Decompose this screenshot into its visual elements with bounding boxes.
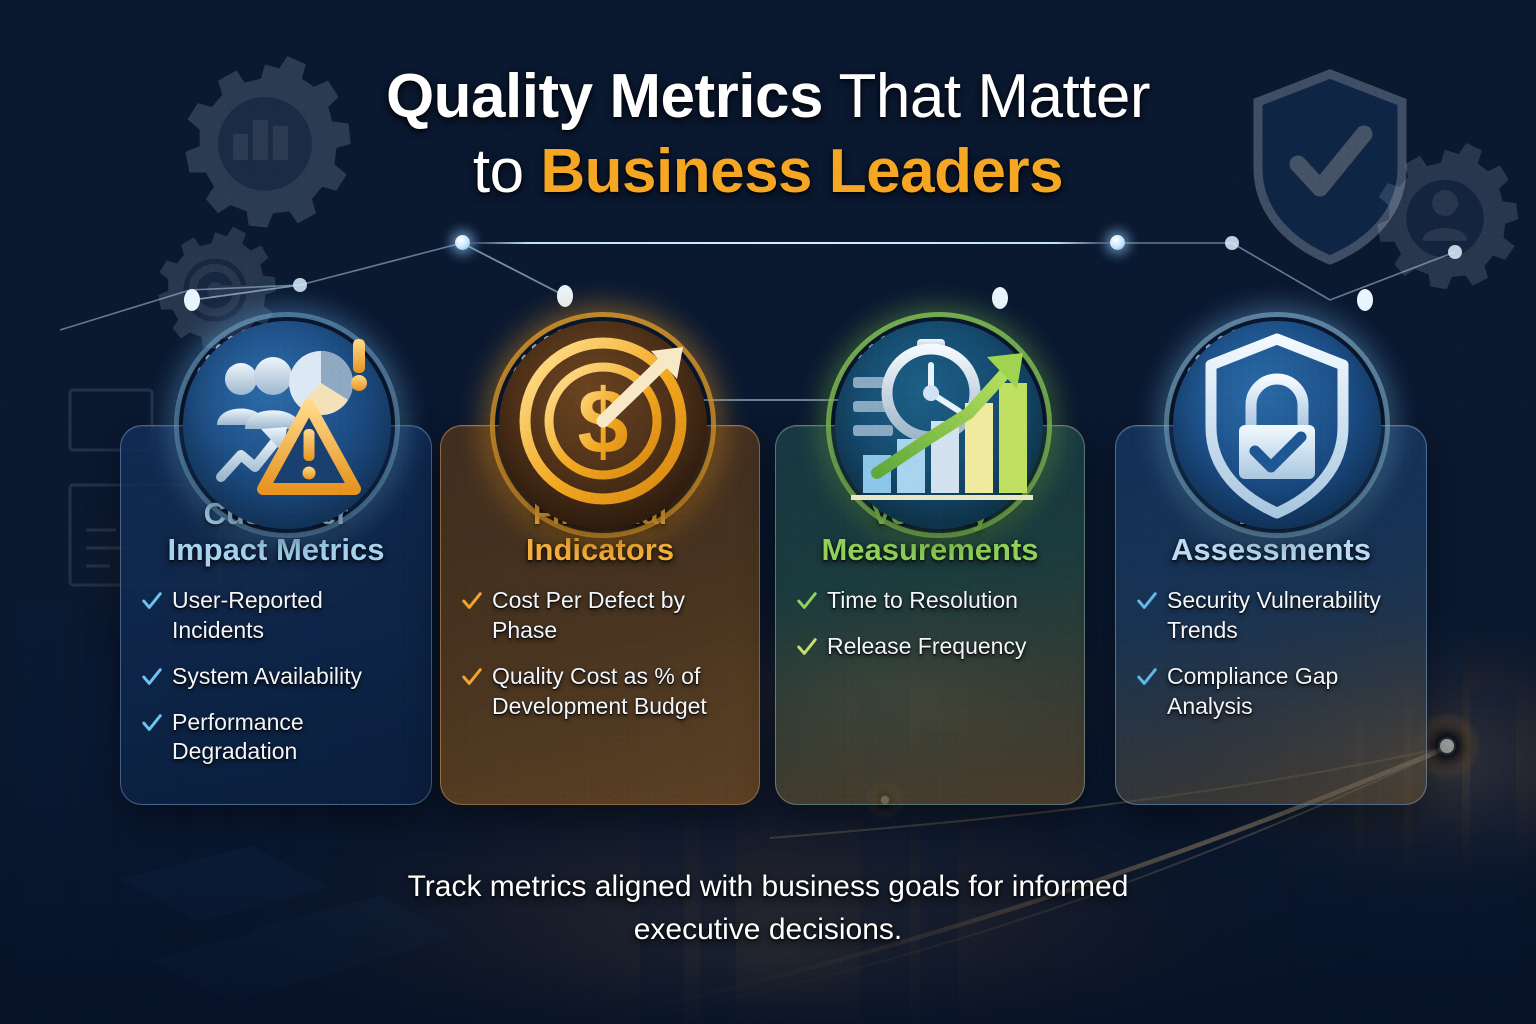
people-pie-warning-icon — [183, 321, 391, 529]
list-item: Cost Per Defect by Phase — [461, 586, 739, 646]
bullet-text: Compliance Gap Analysis — [1167, 662, 1406, 722]
check-icon — [141, 666, 163, 688]
icon-disc-2: $ — [499, 321, 707, 529]
title-part-business-leaders: Business Leaders — [540, 137, 1063, 206]
icon-circle-financial: $ — [490, 312, 716, 538]
bullet-list-3: Time to Resolution Release Frequency — [796, 586, 1064, 662]
footer-caption: Track metrics aligned with business goal… — [308, 866, 1228, 951]
icon-circle-velocity — [826, 312, 1052, 538]
bullet-list-4: Security Vulnerability Trends Compliance… — [1136, 586, 1406, 722]
bullet-text: Time to Resolution — [827, 586, 1018, 616]
stopwatch-bargraph-arrow-icon — [835, 321, 1043, 529]
title-part-quality-metrics: Quality Metrics — [386, 62, 823, 131]
list-item: Time to Resolution — [796, 586, 1064, 616]
check-icon — [1136, 666, 1158, 688]
icon-disc-1 — [183, 321, 391, 529]
icon-disc-4 — [1173, 321, 1381, 529]
bullet-text: System Availability — [172, 662, 362, 692]
bullet-text: Quality Cost as % of Development Budget — [492, 662, 739, 722]
bullet-text: Release Frequency — [827, 632, 1026, 662]
title-part-that-matter: That Matter — [823, 62, 1150, 131]
header-node-left — [455, 235, 470, 250]
list-item: Quality Cost as % of Development Budget — [461, 662, 739, 722]
bullet-text: Security Vulnerability Trends — [1167, 586, 1406, 646]
check-icon — [796, 636, 818, 658]
list-item: Security Vulnerability Trends — [1136, 586, 1406, 646]
footer-line-2: executive decisions. — [308, 909, 1228, 952]
infographic-canvas: Quality Metrics That Matter to Business … — [0, 0, 1536, 1024]
bullet-text: Cost Per Defect by Phase — [492, 586, 739, 646]
header-divider-line — [462, 242, 1122, 244]
icon-circle-customer-impact — [174, 312, 400, 538]
bullet-text: Performance Degradation — [172, 708, 411, 768]
bullet-list-1: User-Reported Incidents System Availabil… — [141, 586, 411, 767]
list-item: Release Frequency — [796, 632, 1064, 662]
list-item: User-Reported Incidents — [141, 586, 411, 646]
icon-disc-3 — [835, 321, 1043, 529]
bullet-text: User-Reported Incidents — [172, 586, 411, 646]
list-item: System Availability — [141, 662, 411, 692]
page-title-line-1: Quality Metrics That Matter — [0, 64, 1536, 131]
page-title-line-2: to Business Leaders — [0, 139, 1536, 206]
bullet-list-2: Cost Per Defect by Phase Quality Cost as… — [461, 586, 739, 722]
title-part-to: to — [473, 137, 540, 206]
dollar-target-arrow-icon: $ — [499, 321, 707, 529]
footer-line-1: Track metrics aligned with business goal… — [308, 866, 1228, 909]
header: Quality Metrics That Matter to Business … — [0, 64, 1536, 206]
check-icon — [141, 712, 163, 734]
icon-circle-risk — [1164, 312, 1390, 538]
header-node-right — [1110, 235, 1125, 250]
list-item: Compliance Gap Analysis — [1136, 662, 1406, 722]
list-item: Performance Degradation — [141, 708, 411, 768]
check-icon — [461, 590, 483, 612]
check-icon — [461, 666, 483, 688]
check-icon — [141, 590, 163, 612]
check-icon — [796, 590, 818, 612]
check-icon — [1136, 590, 1158, 612]
shield-lock-check-icon — [1173, 321, 1381, 529]
